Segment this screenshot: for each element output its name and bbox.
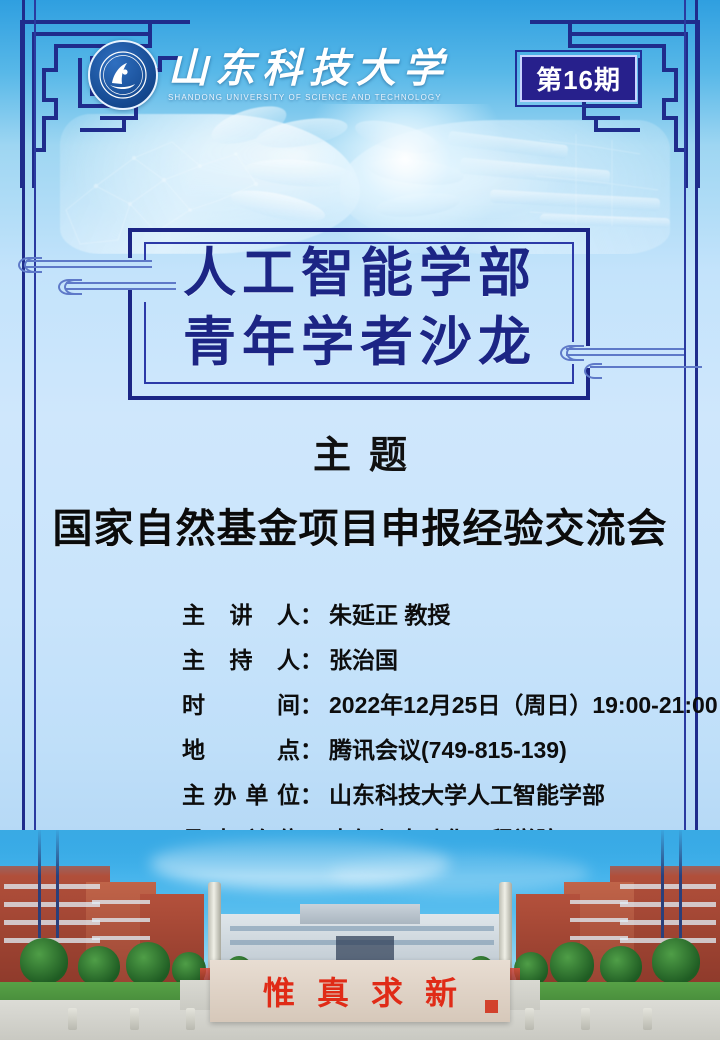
detail-label: 地点: [182, 731, 300, 765]
detail-row: 时间 ： 2022年12月25日（周日）19:00-21:00: [182, 686, 702, 720]
bollard: [130, 1008, 139, 1030]
subject-title: 国家自然基金项目申报经验交流会: [0, 496, 720, 554]
university-emblem-icon: [88, 40, 158, 110]
detail-label: 主讲人: [182, 596, 300, 630]
university-name-en: SHANDONG UNIVERSITY OF SCIENCE AND TECHN…: [168, 93, 450, 102]
bollard: [68, 1008, 77, 1030]
tree: [550, 942, 594, 986]
bracket-inner-bottom: [144, 382, 574, 384]
monument-motto-text: 惟真求新: [241, 968, 479, 1014]
event-poster: 山东科技大学 SHANDONG UNIVERSITY OF SCIENCE AN…: [0, 0, 720, 1040]
campus-monument: 惟真求新: [210, 960, 510, 1022]
detail-colon: ：: [300, 731, 329, 765]
detail-label: 主办单位: [182, 776, 300, 810]
detail-row: 主讲人 ： 朱延正 教授: [182, 596, 702, 630]
university-name-cn: 山东科技大学: [168, 48, 450, 90]
tree: [652, 938, 700, 984]
bracket-top-bar: [128, 228, 590, 232]
tree: [20, 938, 68, 984]
bracket-bottom-bar: [128, 396, 590, 400]
detail-colon: ：: [300, 776, 329, 810]
bollard: [186, 1008, 195, 1030]
title-block: 人工智能学部 青年学者沙龙: [0, 228, 720, 400]
main-title-line-1: 人工智能学部: [0, 240, 720, 309]
detail-colon: ：: [300, 641, 329, 675]
detail-value: 张治国: [329, 641, 702, 675]
detail-colon: ：: [300, 686, 329, 720]
issue-badge: 第16期: [515, 50, 642, 107]
photo-blend-fade: [0, 830, 720, 876]
red-seal-stamp-icon: [485, 1000, 498, 1013]
detail-value: 2022年12月25日（周日）19:00-21:00: [329, 686, 718, 720]
main-title: 人工智能学部 青年学者沙龙: [0, 240, 720, 378]
campus-photo-icon: 惟真求新: [0, 830, 720, 1040]
detail-value: 腾讯会议(749-815-139): [329, 731, 702, 765]
detail-value: 山东科技大学人工智能学部: [329, 776, 702, 810]
subject-label: 主题: [0, 424, 720, 479]
issue-badge-label: 第16期: [536, 65, 621, 95]
detail-row: 地点 ： 腾讯会议(749-815-139): [182, 731, 702, 765]
detail-row: 主持人 ： 张治国: [182, 641, 702, 675]
bollard: [525, 1008, 534, 1030]
bollard: [643, 1008, 652, 1030]
event-details: 主讲人 ： 朱延正 教授 主持人 ： 张治国 时间 ： 2022年12月25日（…: [182, 596, 702, 866]
university-branding: 山东科技大学 SHANDONG UNIVERSITY OF SCIENCE AN…: [88, 40, 450, 110]
tree: [126, 942, 170, 986]
tree: [78, 946, 120, 986]
bollard: [581, 1008, 590, 1030]
detail-label: 时间: [182, 686, 300, 720]
building-center-top: [300, 904, 420, 924]
detail-colon: ：: [300, 596, 329, 630]
main-title-line-2: 青年学者沙龙: [0, 309, 720, 378]
tree: [600, 946, 642, 986]
detail-row: 主办单位 ： 山东科技大学人工智能学部: [182, 776, 702, 810]
detail-label: 主持人: [182, 641, 300, 675]
detail-value: 朱延正 教授: [329, 596, 702, 630]
